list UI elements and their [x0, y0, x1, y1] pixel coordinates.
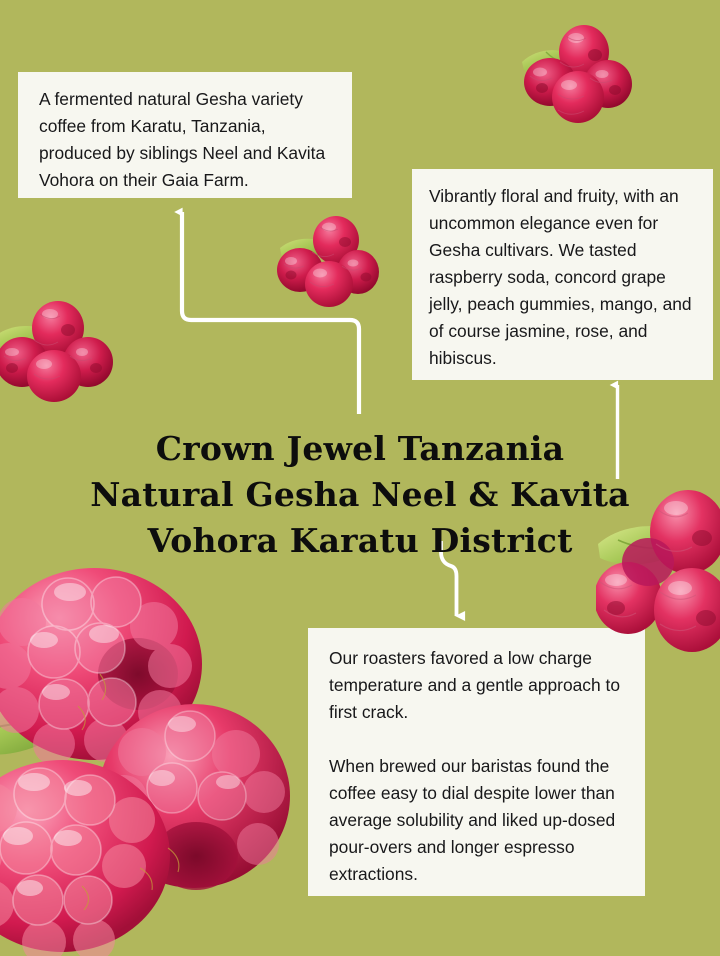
raspberry-cluster-icon: [276, 214, 380, 310]
poster-canvas: A fermented natural Gesha variety coffee…: [0, 0, 720, 956]
callout-roast-paragraph-2: When brewed our baristas found the coffe…: [329, 753, 625, 888]
callout-origin: A fermented natural Gesha variety coffee…: [18, 72, 352, 198]
raspberry-cluster-icon: [596, 488, 720, 666]
raspberry-cluster-icon: [516, 22, 634, 126]
raspberry-closeup-icon: [0, 556, 298, 956]
callout-roast-paragraph-1: Our roasters favored a low charge temper…: [329, 645, 625, 726]
callout-tasting-notes: Vibrantly floral and fruity, with an unc…: [412, 169, 713, 380]
page-title-line-1: Crown Jewel Tanzania: [0, 426, 720, 472]
raspberry-cluster-icon: [0, 300, 118, 406]
callout-origin-text: A fermented natural Gesha variety coffee…: [39, 86, 334, 194]
callout-roast-brew: Our roasters favored a low charge temper…: [308, 628, 645, 896]
callout-tasting-text: Vibrantly floral and fruity, with an unc…: [429, 183, 699, 372]
